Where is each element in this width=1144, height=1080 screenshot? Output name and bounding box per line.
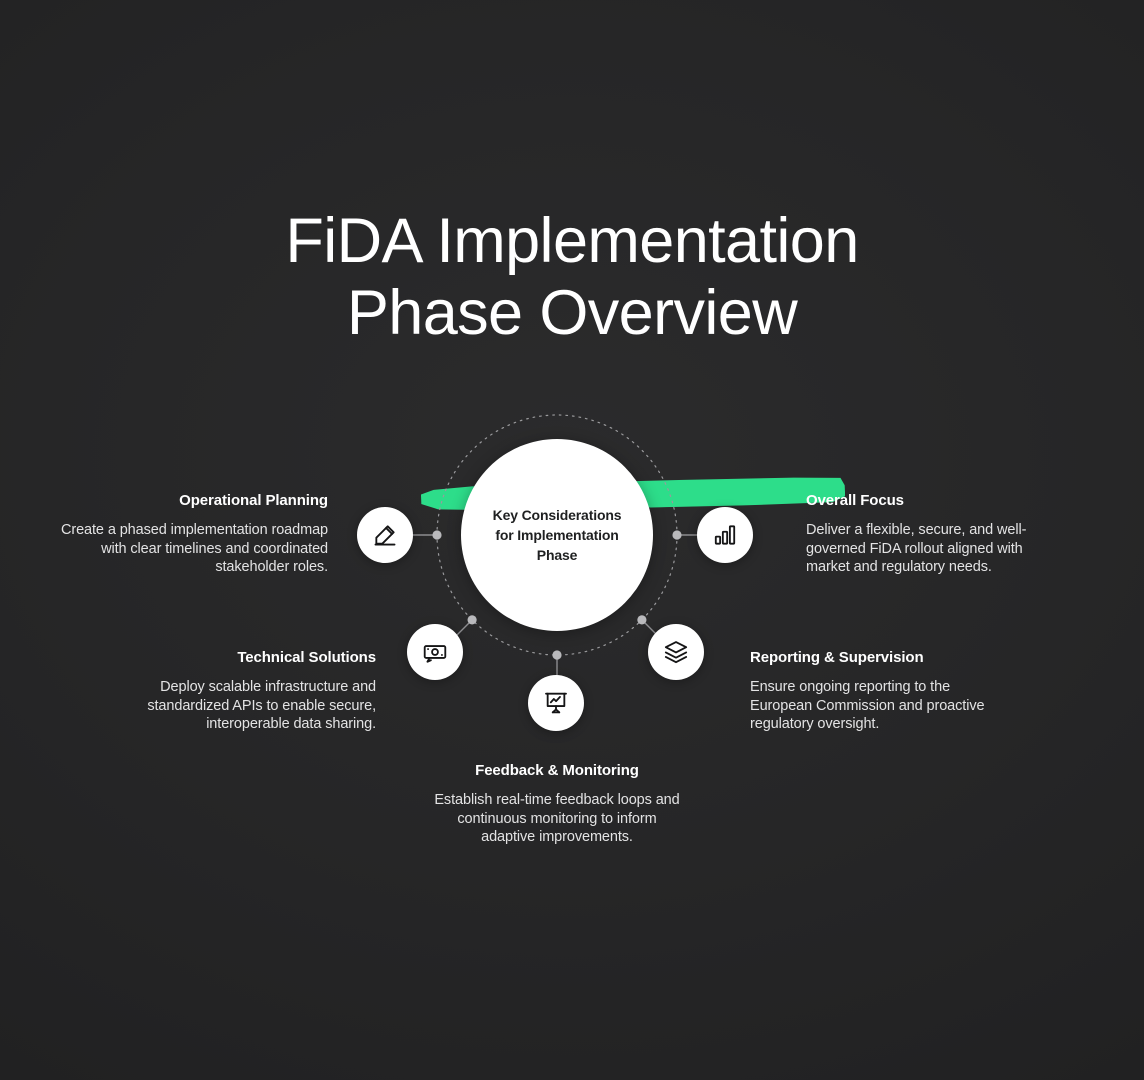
node-text-overall-focus: Overall Focus Deliver a flexible, secure…	[806, 492, 1062, 577]
node-description-reporting-supervision: Ensure ongoing reporting to the European…	[750, 678, 1010, 734]
node-description-feedback-monitoring: Establish real-time feedback loops and c…	[432, 791, 682, 847]
title-line-2: Phase Overview	[0, 277, 1144, 349]
node-icon-reporting-supervision[interactable]	[648, 624, 704, 680]
hub-label: Key Considerations for Implementation Ph…	[482, 505, 632, 565]
node-text-operational-planning: Operational Planning Create a phased imp…	[48, 492, 328, 577]
edit-pencil-square-icon	[372, 522, 398, 548]
node-text-reporting-supervision: Reporting & Supervision Ensure ongoing r…	[750, 649, 1010, 734]
page-title: FiDA Implementation Phase Overview	[0, 205, 1144, 349]
node-title-overall-focus: Overall Focus	[806, 492, 1062, 509]
node-title-operational-planning: Operational Planning	[48, 492, 328, 509]
node-title-feedback-monitoring: Feedback & Monitoring	[432, 762, 682, 779]
banknote-icon	[422, 639, 448, 665]
node-icon-overall-focus[interactable]	[697, 507, 753, 563]
node-icon-feedback-monitoring[interactable]	[528, 675, 584, 731]
node-icon-operational-planning[interactable]	[357, 507, 413, 563]
node-text-technical-solutions: Technical Solutions Deploy scalable infr…	[128, 649, 376, 734]
node-title-reporting-supervision: Reporting & Supervision	[750, 649, 1010, 666]
node-text-feedback-monitoring: Feedback & Monitoring Establish real-tim…	[432, 762, 682, 847]
hub-circle: Key Considerations for Implementation Ph…	[461, 439, 653, 631]
node-description-operational-planning: Create a phased implementation roadmap w…	[48, 521, 328, 577]
node-title-technical-solutions: Technical Solutions	[128, 649, 376, 666]
bar-chart-icon	[712, 522, 738, 548]
node-icon-technical-solutions[interactable]	[407, 624, 463, 680]
title-line-1: FiDA Implementation	[0, 205, 1144, 277]
node-description-overall-focus: Deliver a flexible, secure, and well-gov…	[806, 521, 1062, 577]
presentation-chart-icon	[543, 690, 569, 716]
layers-stack-icon	[663, 639, 689, 665]
node-description-technical-solutions: Deploy scalable infrastructure and stand…	[128, 678, 376, 734]
